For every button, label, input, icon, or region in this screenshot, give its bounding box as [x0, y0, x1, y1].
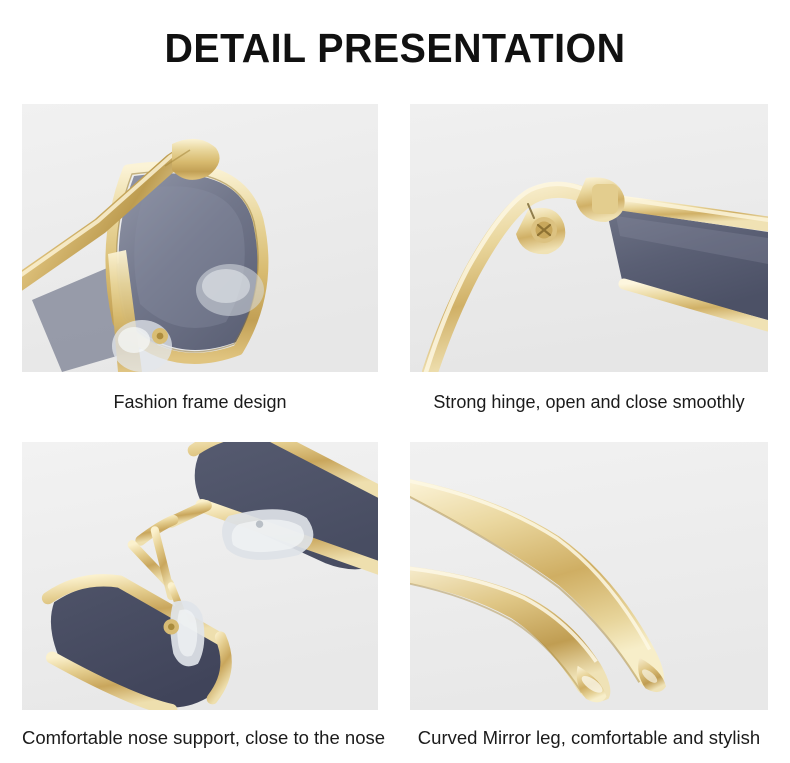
frame-corner-illustration: [22, 104, 378, 372]
panel-caption-comfortable-nose-support: Comfortable nose support, close to the n…: [22, 727, 378, 749]
product-photo-frame-corner[interactable]: [22, 104, 378, 372]
detail-panel-fashion-frame-design[interactable]: Fashion frame design: [22, 104, 378, 413]
detail-panel-curved-mirror-leg[interactable]: Curved Mirror leg, comfortable and styli…: [410, 442, 768, 749]
panel-caption-fashion-frame-design: Fashion frame design: [22, 391, 378, 413]
detail-panel-comfortable-nose-support[interactable]: Comfortable nose support, close to the n…: [22, 442, 378, 749]
detail-presentation-page: DETAIL PRESENTATION: [0, 0, 790, 763]
product-photo-temple-arms[interactable]: [410, 442, 768, 710]
panel-caption-curved-mirror-leg: Curved Mirror leg, comfortable and styli…: [410, 727, 768, 749]
hinge-illustration: [410, 104, 768, 372]
page-title: DETAIL PRESENTATION: [16, 24, 774, 72]
detail-panel-grid: Fashion frame design: [0, 96, 790, 756]
temple-arms-illustration: [410, 442, 768, 710]
product-photo-nose-bridge[interactable]: [22, 442, 378, 710]
detail-panel-strong-hinge[interactable]: Strong hinge, open and close smoothly: [410, 104, 768, 413]
panel-caption-strong-hinge: Strong hinge, open and close smoothly: [410, 391, 768, 413]
product-photo-hinge[interactable]: [410, 104, 768, 372]
nose-bridge-illustration: [22, 442, 378, 710]
